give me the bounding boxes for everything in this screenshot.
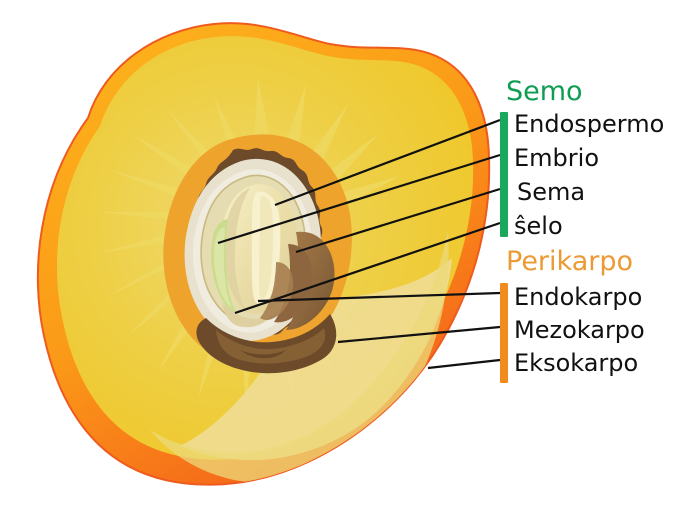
legend-label-selo[interactable]: ŝelo (514, 214, 563, 238)
peach-anatomy-diagram: Semo Endospermo Embrio Sema ŝelo Perikar… (0, 0, 686, 512)
legend-group-title-perikarpo: Perikarpo (506, 248, 633, 275)
legend-label-endospermo[interactable]: Endospermo (514, 112, 664, 136)
legend-group-bar-perikarpo (500, 283, 508, 383)
legend-group-bar-semo (500, 112, 508, 237)
leader-line-eksokarpo (428, 360, 500, 368)
legend-label-mezokarpo[interactable]: Mezokarpo (514, 318, 645, 342)
legend-label-embrio[interactable]: Embrio (514, 146, 599, 170)
legend-group-title-semo: Semo (506, 78, 583, 105)
legend-label-endokarpo[interactable]: Endokarpo (514, 285, 642, 309)
legend-label-sema[interactable]: Sema (517, 180, 585, 204)
legend-label-eksokarpo[interactable]: Eksokarpo (514, 351, 638, 375)
